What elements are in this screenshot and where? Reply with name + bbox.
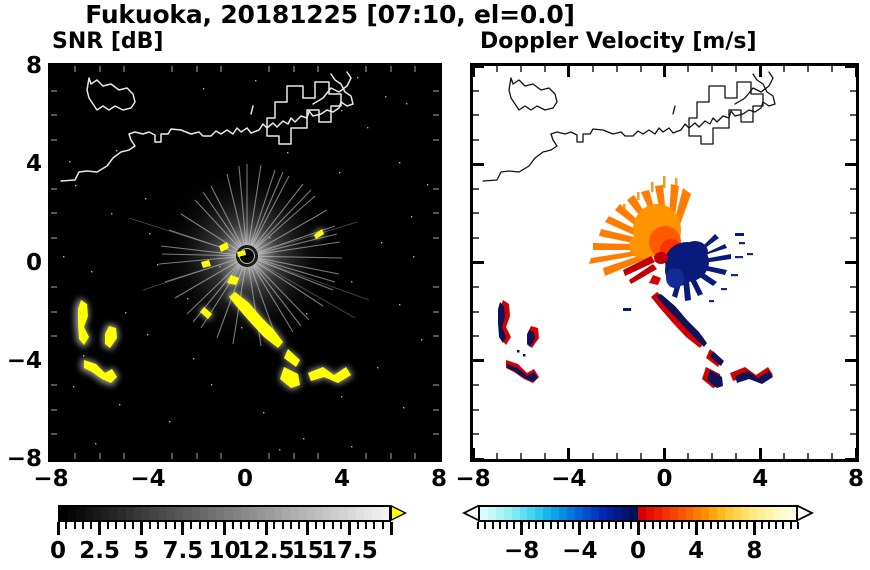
doppler-colorbar-label-2: 0 [630,538,646,564]
dop-xtick-bottom-2 [711,453,713,459]
snr-colorbar-segment [315,507,323,520]
dop-xtick-bottom--2 [616,453,618,459]
dop-ytick-0 [473,261,484,264]
doppler-colorbar-segment [757,507,765,520]
doppler-colorbar-label-3: 4 [688,538,704,564]
snr-colorbar-segment [298,507,306,520]
dop-ytick-3 [473,188,479,190]
snr-ytick--6 [51,409,57,411]
snr-colorbar-segment [257,507,265,520]
dop-ytick--8 [473,458,484,461]
snr-colorbar-tick [306,522,309,535]
snr-xtick--1 [220,66,222,72]
dop-xtick-bottom--1 [640,453,642,459]
snr-colorbar-tick [265,522,268,535]
dop-ytick-right--1 [850,286,856,288]
doppler-colorbar-segment [780,507,788,520]
snr-ytick-right--1 [433,286,439,288]
snr-colorbar-segment [364,507,372,520]
snr-xtick--6 [99,66,101,72]
doppler-colorbar-tick [724,522,726,529]
snr-ytick--7 [51,433,57,435]
snr-colorbar-segment [307,507,315,520]
dop-xtick--6 [520,66,522,72]
snr-colorbar-tick [323,522,325,529]
doppler-colorbar-segment [583,507,591,520]
snr-xtick-2 [293,66,295,72]
doppler-colorbar-segment [543,507,551,520]
dop-ytick--1 [473,286,479,288]
doppler-colorbar-segment [575,507,583,520]
doppler-colorbar-segment [567,507,575,520]
dop-xtick-bottom-0 [663,448,666,459]
snr-ytick--4 [51,359,62,362]
snr-ytick-right--4 [428,359,439,362]
doppler-colorbar-tick [768,522,770,529]
snr-ytick-right-3 [433,188,439,190]
dop-ytick-2 [473,212,479,214]
snr-xtick--2 [196,66,198,72]
snr-colorbar-tick [157,522,159,529]
doppler-colorbar-segment [535,507,543,520]
snr-ytick-right--3 [433,335,439,337]
doppler-colorbar-tick [695,522,698,535]
snr-colorbar-tick [365,522,367,529]
dop-ytick-4 [473,163,484,166]
snr-ytick-right-5 [433,139,439,141]
snr-colorbar-segment [118,507,126,520]
doppler-colorbar-extend-arrow-right-fill [798,507,810,519]
dop-xtick-8 [855,66,858,77]
snr-colorbar-segment [216,507,224,520]
snr-ytick--8 [51,458,62,461]
snr-xtick-5 [365,66,367,72]
doppler-colorbar-segment [773,507,781,520]
snr-colorbar-segment [134,507,142,520]
dop-xtick-2 [711,66,713,72]
snr-colorbar-tick [215,522,217,529]
doppler-colorbar-tick [542,522,544,529]
doppler-colorbar-segment [678,507,686,520]
doppler-colorbar-tick [659,522,661,529]
doppler-colorbar-segment [614,507,622,520]
snr-colorbar-label-6: 15 [292,538,324,564]
snr-xtick--3 [171,66,173,72]
dop-ytick-right-1 [850,237,856,239]
dop-xtick--1 [640,66,642,72]
snr-ytick-1 [51,237,57,239]
doppler-colorbar-tick [572,522,574,529]
dop-xlabel-2: 0 [656,466,672,492]
doppler-colorbar-label-4: 8 [746,538,762,564]
doppler-colorbar-tick [622,522,624,529]
snr-colorbar-segment [356,507,364,520]
dop-xlabel-4: 8 [848,466,864,492]
snr-colorbar-segment [331,507,339,520]
dop-ytick-5 [473,139,479,141]
doppler-colorbar-segment [749,507,757,520]
dop-xtick-1 [687,66,689,72]
doppler-colorbar-tick [484,522,486,529]
dop-xtick-6 [807,66,809,72]
doppler-colorbar-tick [564,522,566,529]
snr-xlabel-1: −4 [130,466,165,492]
snr-xtick-3 [317,66,319,72]
snr-colorbar-label-7: 17.5 [321,538,378,564]
dop-ytick--3 [473,335,479,337]
dop-xtick-bottom-6 [807,453,809,459]
snr-colorbar-segment [323,507,331,520]
dop-ytick-right-5 [850,139,856,141]
dop-ytick--6 [473,409,479,411]
snr-colorbar-tick [98,522,101,535]
dop-xtick-bottom--4 [567,448,570,459]
snr-xtick-bottom-6 [390,453,392,459]
doppler-colorbar-tick [666,522,668,529]
dop-ytick-right-3 [850,188,856,190]
doppler-colorbar-segment [670,507,678,520]
doppler-colorbar-tick [717,522,719,529]
snr-colorbar-segment [372,507,380,520]
snr-ytick-7 [51,90,57,92]
doppler-colorbar-segment [662,507,670,520]
snr-ytick-5 [51,139,57,141]
doppler-colorbar-tick [506,522,508,529]
snr-colorbar-tick [273,522,275,529]
dop-xtick--7 [496,66,498,72]
snr-xtick-bottom--5 [123,453,125,459]
dop-xlabel-1: −4 [551,466,586,492]
dop-ytick-right-7 [850,90,856,92]
dop-ytick-right--6 [850,409,856,411]
dop-xtick--4 [567,66,570,77]
snr-xtick-bottom--1 [220,453,222,459]
snr-ytick-right-1 [433,237,439,239]
snr-xlabel-2: 0 [237,466,253,492]
snr-colorbar-tick [298,522,300,529]
snr-xtick-7 [414,66,416,72]
dop-xtick-bottom-4 [759,448,762,459]
snr-ytick-right-2 [433,212,439,214]
snr-colorbar-segment [224,507,232,520]
doppler-colorbar-segment [551,507,559,520]
doppler-colorbar-segment [520,507,528,520]
snr-colorbar-tick [132,522,134,529]
snr-xtick-bottom--2 [196,453,198,459]
snr-colorbar-tick [199,522,201,529]
doppler-plot-inner [473,66,856,459]
snr-xtick-bottom-3 [317,453,319,459]
snr-colorbar-tick [373,522,375,529]
doppler-colorbar-segment [741,507,749,520]
doppler-colorbar-segment [709,507,717,520]
snr-xtick-bottom-0 [244,448,247,459]
snr-plot-inner [51,66,439,459]
dop-ytick-right-4 [845,163,856,166]
snr-xtick-6 [390,66,392,72]
dop-xlabel-0: −8 [455,466,490,492]
snr-colorbar-extend-arrow-fill [392,507,404,519]
snr-ytick-0 [51,261,62,264]
doppler-colorbar-tick [557,522,559,529]
doppler-colorbar-tick [637,522,640,535]
snr-ytick-right--2 [433,311,439,313]
snr-colorbar-segment [93,507,101,520]
doppler-colorbar-segment [599,507,607,520]
snr-colorbar-tick [240,522,242,529]
snr-xtick-8 [438,66,441,77]
doppler-colorbar-tick [761,522,763,529]
snr-colorbar-segment [200,507,208,520]
doppler-colorbar-segment [512,507,520,520]
dop-ytick-8 [473,65,484,68]
snr-colorbar-tick [282,522,284,529]
snr-colorbar-label-3: 7.5 [163,538,204,564]
snr-xtick-1 [268,66,270,72]
snr-colorbar-tick [257,522,259,529]
snr-colorbar-tick [174,522,176,529]
doppler-colorbar-tick [499,522,501,529]
figure-canvas: Fukuoka, 20181225 [07:10, el=0.0] SNR [d… [0,0,870,570]
snr-colorbar-segment [282,507,290,520]
snr-colorbar-tick [348,522,351,535]
snr-colorbar-tick [340,522,342,529]
snr-colorbar-tick [181,522,184,535]
doppler-colorbar-segment [591,507,599,520]
snr-colorbar-tick [390,522,393,535]
snr-ytick-right--6 [433,409,439,411]
snr-colorbar-segment [274,507,282,520]
snr-colorbar-tick [82,522,84,529]
dop-xtick-bottom--3 [592,453,594,459]
snr-colorbar-segment [233,507,241,520]
snr-ytick-8 [51,65,62,68]
snr-colorbar-tick [124,522,126,529]
snr-colorbar-segment [68,507,76,520]
snr-radar-image [51,66,439,459]
doppler-colorbar-tick [528,522,530,529]
snr-colorbar-tick [165,522,167,529]
snr-colorbar-tick [140,522,143,535]
dop-xtick-bottom--6 [520,453,522,459]
dop-ytick-right--4 [845,359,856,362]
snr-colorbar-segment [265,507,273,520]
snr-colorbar-tick [190,522,192,529]
snr-ytick-2 [51,212,57,214]
snr-colorbar-label-0: 0 [50,538,66,564]
doppler-colorbar-segment [654,507,662,520]
doppler-colorbar-tick [732,522,734,529]
snr-xtick--4 [147,66,150,77]
snr-ytick-6 [51,114,57,116]
snr-ytick-right--7 [433,433,439,435]
snr-colorbar-tick [107,522,109,529]
snr-colorbar-ticks [58,522,391,536]
doppler-colorbar-tick [782,522,784,529]
snr-colorbar-segment [348,507,356,520]
doppler-colorbar-segment [488,507,496,520]
snr-ytick-right-0 [428,261,439,264]
doppler-colorbar-segment [686,507,694,520]
snr-xtick-bottom--3 [171,453,173,459]
doppler-colorbar-segment [646,507,654,520]
snr-ytick-right-7 [433,90,439,92]
doppler-colorbar-segment [765,507,773,520]
snr-ytick-4 [51,163,62,166]
snr-plot-area[interactable] [48,63,442,462]
dop-ytick--5 [473,384,479,386]
snr-colorbar-segment [183,507,191,520]
snr-colorbar-segment [192,507,200,520]
snr-xtick-bottom--4 [147,448,150,459]
snr-colorbar-segment [381,507,389,520]
dop-ytick--7 [473,433,479,435]
snr-ytick-right-4 [428,163,439,166]
snr-xtick--8 [50,66,53,77]
dop-xtick-bottom-5 [783,453,785,459]
snr-xtick-bottom-8 [438,448,441,459]
doppler-colorbar-tick [688,522,690,529]
doppler-plot-area[interactable] [470,63,859,462]
snr-colorbar-segment [208,507,216,520]
snr-panel-title: SNR [dB] [52,29,163,54]
snr-xtick-4 [341,66,344,77]
dop-xtick-bottom-8 [855,448,858,459]
snr-colorbar-segment [150,507,158,520]
doppler-colorbar-tick [578,522,581,535]
snr-ylabel-1: 4 [0,151,42,177]
snr-colorbar-label-4: 10 [208,538,240,564]
snr-colorbar-label-2: 5 [133,538,149,564]
snr-ytick-right--5 [433,384,439,386]
dop-xtick-bottom-1 [687,453,689,459]
snr-colorbar-tick [115,522,117,529]
snr-ylabel-4: −8 [0,446,42,472]
dop-ytick-6 [473,114,479,116]
snr-colorbar-label-5: 12.5 [238,538,295,564]
doppler-colorbar-tick [797,522,799,529]
doppler-colorbar-tick [535,522,537,529]
snr-colorbar-tick [315,522,317,529]
snr-colorbar-segment [142,507,150,520]
dop-ytick--2 [473,311,479,313]
snr-xtick--5 [123,66,125,72]
doppler-colorbar-tick [492,522,494,529]
snr-xtick-bottom-7 [414,453,416,459]
snr-colorbar-tick [248,522,250,529]
doppler-panel-title: Doppler Velocity [m/s] [480,29,757,54]
dop-xtick-bottom--7 [496,453,498,459]
doppler-colorbar-segment [725,507,733,520]
doppler-colorbar-tick [608,522,610,529]
snr-colorbar-segment [175,507,183,520]
snr-colorbar-body[interactable] [58,505,391,522]
snr-colorbar-tick [149,522,151,529]
dop-xtick--2 [616,66,618,72]
doppler-colorbar-body[interactable] [478,505,798,522]
doppler-colorbar-tick [652,522,654,529]
dop-ytick--4 [473,359,484,362]
snr-colorbar-tick [223,522,226,535]
doppler-colorbar-tick [790,522,792,529]
dop-ytick-right--5 [850,384,856,386]
snr-xtick-bottom--7 [74,453,76,459]
dop-ytick-right-8 [845,65,856,68]
snr-xtick-bottom-1 [268,453,270,459]
dop-xtick-7 [831,66,833,72]
doppler-colorbar-tick [702,522,704,529]
doppler-colorbar-tick [477,522,479,529]
dop-ytick-right-0 [845,261,856,264]
doppler-colorbar-tick [739,522,741,529]
snr-colorbar-tick [382,522,384,529]
dop-xlabel-3: 4 [752,466,768,492]
dop-xtick-3 [735,66,737,72]
snr-ytick-right-6 [433,114,439,116]
dop-xtick--3 [592,66,594,72]
doppler-colorbar-segment [504,507,512,520]
snr-colorbar-label-1: 2.5 [79,538,120,564]
snr-xtick-bottom-5 [365,453,367,459]
dop-ytick-right-2 [850,212,856,214]
doppler-colorbar-segment [496,507,504,520]
dop-xtick-bottom--5 [544,453,546,459]
doppler-colorbar-tick [644,522,646,529]
snr-xtick--7 [74,66,76,72]
doppler-colorbar-segment [788,507,796,520]
snr-colorbar-segment [60,507,68,520]
dop-xtick--5 [544,66,546,72]
dop-xtick-5 [783,66,785,72]
snr-colorbar-tick [357,522,359,529]
snr-colorbar-segment [290,507,298,520]
snr-ytick-right-8 [428,65,439,68]
doppler-colorbar-segment [527,507,535,520]
dop-ytick-right--7 [850,433,856,435]
doppler-colorbar-segment [630,507,638,520]
doppler-colorbar-tick [586,522,588,529]
dop-ytick-right--2 [850,311,856,313]
doppler-colorbar-segment [717,507,725,520]
doppler-colorbar-label-0: −8 [504,538,539,564]
doppler-colorbar-segment [638,507,646,520]
snr-colorbar-segment [167,507,175,520]
snr-xlabel-4: 8 [431,466,447,492]
doppler-colorbar-tick [615,522,617,529]
page-title: Fukuoka, 20181225 [07:10, el=0.0] [0,0,660,29]
doppler-colorbar-segment [607,507,615,520]
snr-colorbar-tick [57,522,60,535]
snr-ytick--5 [51,384,57,386]
snr-colorbar-segment [85,507,93,520]
dop-xtick-0 [663,66,666,77]
snr-colorbar-segment [101,507,109,520]
dop-ytick-1 [473,237,479,239]
doppler-colorbar-segment [701,507,709,520]
dop-ytick-right-6 [850,114,856,116]
snr-ylabel-3: −4 [0,348,42,374]
snr-xtick-bottom--6 [99,453,101,459]
doppler-colorbar-segment [622,507,630,520]
snr-colorbar-tick [290,522,292,529]
dop-ytick-7 [473,90,479,92]
snr-colorbar-tick [90,522,92,529]
snr-colorbar-tick [65,522,67,529]
snr-ytick--1 [51,286,57,288]
dop-xtick--8 [472,66,475,77]
doppler-colorbar-tick [681,522,683,529]
snr-xlabel-3: 4 [334,466,350,492]
